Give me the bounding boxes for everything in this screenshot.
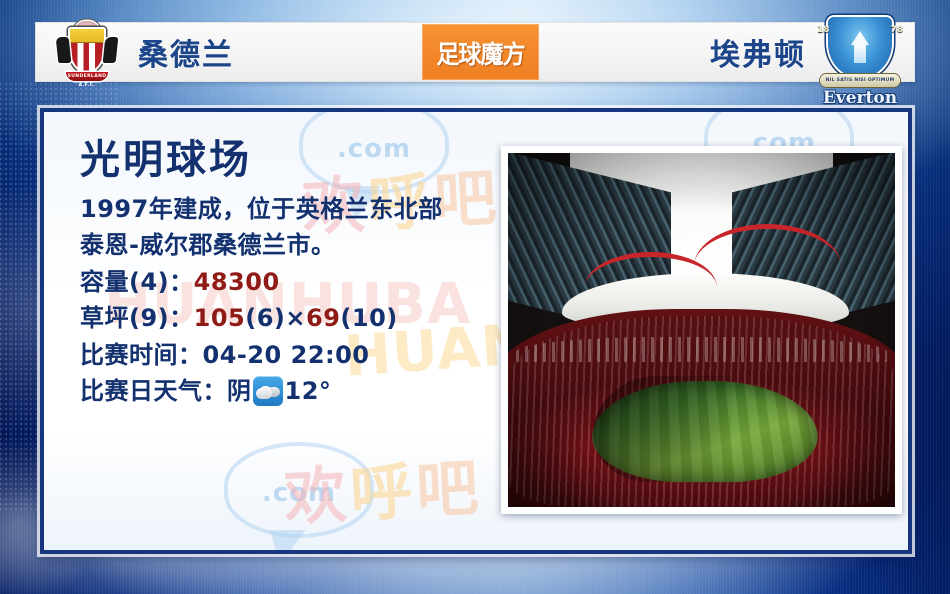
- stadium-title: 光明球场: [80, 138, 500, 183]
- crest-lion-right-icon: [103, 37, 119, 63]
- weather-condition: 阴: [227, 373, 252, 409]
- stadium-info-card: .com .com .com HUANHUBA HUANHUBA 欢呼吧 欢呼吧…: [40, 108, 912, 554]
- sunderland-afc-crest-icon: SUNDERLAND A.F.C.: [54, 21, 120, 83]
- kickoff-line: 比赛时间：04-20 22:00: [80, 337, 500, 373]
- home-team-block[interactable]: SUNDERLAND A.F.C. 桑德兰: [36, 23, 234, 81]
- stadium-description-line-2: 泰恩-威尔郡桑德兰市。: [80, 227, 500, 263]
- crest-lion-left-icon: [56, 37, 72, 63]
- stadium-description-line-1: 1997年建成，位于英格兰东北部: [80, 191, 500, 227]
- crest-tower-roof-shape: [851, 31, 869, 45]
- watermark-char-1: 欢: [283, 458, 353, 534]
- watermark-chinese-brand: 欢呼吧: [282, 437, 484, 537]
- crest-year-right: 78: [890, 25, 903, 35]
- overcast-cloud-icon: [253, 376, 283, 406]
- pitch-size-separator: ×: [285, 304, 306, 332]
- weather-temperature: 12°: [285, 373, 332, 409]
- crest-tower-body-shape: [854, 45, 866, 63]
- capacity-label: 容量(4)：: [80, 268, 194, 296]
- away-team-name: 埃弗顿: [710, 30, 806, 74]
- pitch-length-rank: (6): [245, 304, 285, 332]
- card-inner: .com .com .com HUANHUBA HUANHUBA 欢呼吧 欢呼吧…: [44, 112, 908, 550]
- kickoff-label: 比赛时间：: [80, 341, 203, 369]
- everton-fc-crest-icon: 18 78 NIL SATIS NISI OPTIMUM Everton: [816, 17, 904, 109]
- pitch-width-rank: (10): [340, 304, 397, 332]
- home-team-name: 桑德兰: [138, 30, 234, 74]
- watermark-char-2: 呼: [348, 454, 418, 530]
- capacity-line: 容量(4)：48300: [80, 264, 500, 300]
- photo-vignette: [508, 153, 895, 507]
- crest-year-left: 18: [817, 25, 830, 35]
- pitch-size-line: 草坪(9)：105(6)×69(10): [80, 300, 500, 336]
- capacity-value: 48300: [194, 268, 280, 296]
- weather-label: 比赛日天气：: [80, 373, 227, 409]
- pitch-width-value: 69: [306, 304, 340, 332]
- crest-shield-shape: [68, 27, 106, 73]
- stadium-info-text: 光明球场 1997年建成，位于英格兰东北部 泰恩-威尔郡桑德兰市。 容量(4)：…: [80, 138, 500, 410]
- kickoff-value: 04-20 22:00: [203, 341, 370, 369]
- brand-logo-text: 足球魔方: [437, 34, 525, 71]
- stadium-photo: [508, 153, 895, 507]
- watermark-speech-bubble: .com: [224, 442, 374, 538]
- watermark-char-3: 吧: [414, 451, 484, 527]
- brand-logo[interactable]: 足球魔方: [422, 24, 539, 80]
- crest-club-name: Everton: [816, 87, 904, 109]
- crest-motto-ribbon: NIL SATIS NISI OPTIMUM: [820, 74, 900, 87]
- pitch-label: 草坪(9)：: [80, 304, 194, 332]
- away-team-block[interactable]: 埃弗顿 18 78 NIL SATIS NISI OPTIMUM Everton: [710, 23, 914, 81]
- stadium-photo-frame[interactable]: [501, 146, 902, 514]
- cloud-shape-top: [260, 386, 271, 395]
- crest-banner-text: SUNDERLAND A.F.C.: [66, 72, 108, 81]
- watermark-dotcom-text: .com: [228, 478, 370, 508]
- pitch-length-value: 105: [194, 304, 246, 332]
- weather-line: 比赛日天气：阴12°: [80, 373, 500, 409]
